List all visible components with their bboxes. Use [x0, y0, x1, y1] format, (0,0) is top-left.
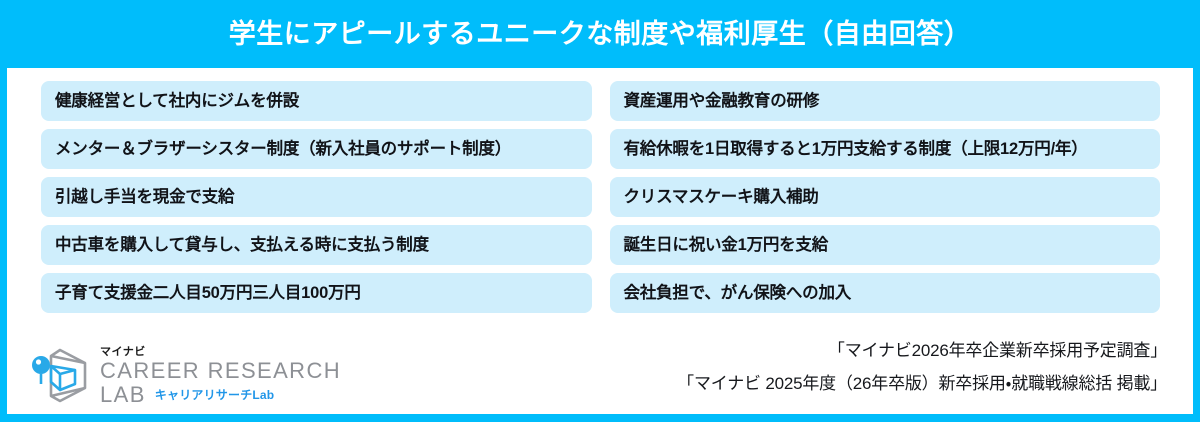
source-citation: 「マイナビ2026年卒企業新卒採用予定調査」 「マイナビ 2025年度（26年卒… [677, 334, 1167, 400]
content-card: 健康経営として社内にジムを併設 メンター＆ブラザーシスター制度（新入社員のサポー… [7, 68, 1193, 414]
brand-name-line2: LAB [100, 383, 146, 406]
list-item-label: 健康経営として社内にジムを併設 [55, 93, 299, 110]
brand-logo-text: マイナビ CAREER RESEARCH LAB キャリアリサーチLab [100, 344, 341, 405]
list-item: 引越し手当を現金で支給 [41, 177, 592, 217]
header-band: 学生にアピールするユニークな制度や福利厚生（自由回答） [0, 0, 1200, 68]
list-item: 資産運用や金融教育の研修 [610, 81, 1161, 121]
list-item: メンター＆ブラザーシスター制度（新入社員のサポート制度） [41, 129, 592, 169]
list-item-label: 中古車を購入して貸与し、支払える時に支払う制度 [55, 237, 429, 254]
page-title: 学生にアピールするユニークな制度や福利厚生（自由回答） [229, 21, 972, 48]
list-item-label: 誕生日に祝い金1万円を支給 [624, 237, 829, 254]
list-item-label: 資産運用や金融教育の研修 [624, 93, 820, 110]
list-item-label: 会社負担で、がん保険への加入 [624, 285, 852, 302]
list-item: 子育て支援金二人目50万円三人目100万円 [41, 273, 592, 313]
list-item-label: 有給休暇を1日取得すると1万円支給する制度（上限12万円/年） [624, 141, 1088, 158]
list-item-label: 引越し手当を現金で支給 [55, 189, 234, 206]
list-item: 会社負担で、がん保険への加入 [610, 273, 1161, 313]
brand-name-row2: LAB キャリアリサーチLab [100, 383, 341, 406]
brand-subtitle: キャリアリサーチLab [155, 387, 275, 406]
brand-name-line1: CAREER RESEARCH [100, 359, 341, 382]
list-item: 有給休暇を1日取得すると1万円支給する制度（上限12万円/年） [610, 129, 1161, 169]
cube-logo-icon [29, 344, 91, 406]
list-item: クリスマスケーキ購入補助 [610, 177, 1161, 217]
list-item-label: 子育て支援金二人目50万円三人目100万円 [55, 285, 361, 302]
footer: マイナビ CAREER RESEARCH LAB キャリアリサーチLab 「マイ… [7, 322, 1193, 414]
infographic-root: 学生にアピールするユニークな制度や福利厚生（自由回答） 健康経営として社内にジム… [0, 0, 1200, 422]
list-item: 誕生日に祝い金1万円を支給 [610, 225, 1161, 265]
brand-logo: マイナビ CAREER RESEARCH LAB キャリアリサーチLab [29, 344, 341, 406]
list-item: 健康経営として社内にジムを併設 [41, 81, 592, 121]
right-column: 資産運用や金融教育の研修 有給休暇を1日取得すると1万円支給する制度（上限12万… [610, 81, 1161, 313]
list-item-label: クリスマスケーキ購入補助 [624, 189, 819, 206]
left-column: 健康経営として社内にジムを併設 メンター＆ブラザーシスター制度（新入社員のサポー… [41, 81, 592, 313]
source-line: 「マイナビ 2025年度（26年卒版）新卒採用・就職戦線総括 掲載」 [677, 367, 1167, 400]
list-item-label: メンター＆ブラザーシスター制度（新入社員のサポート制度） [55, 141, 511, 158]
brand-kana: マイナビ [100, 346, 341, 358]
pill-columns: 健康経営として社内にジムを併設 メンター＆ブラザーシスター制度（新入社員のサポー… [7, 81, 1193, 313]
source-line: 「マイナビ2026年卒企業新卒採用予定調査」 [677, 334, 1167, 367]
list-item: 中古車を購入して貸与し、支払える時に支払う制度 [41, 225, 592, 265]
